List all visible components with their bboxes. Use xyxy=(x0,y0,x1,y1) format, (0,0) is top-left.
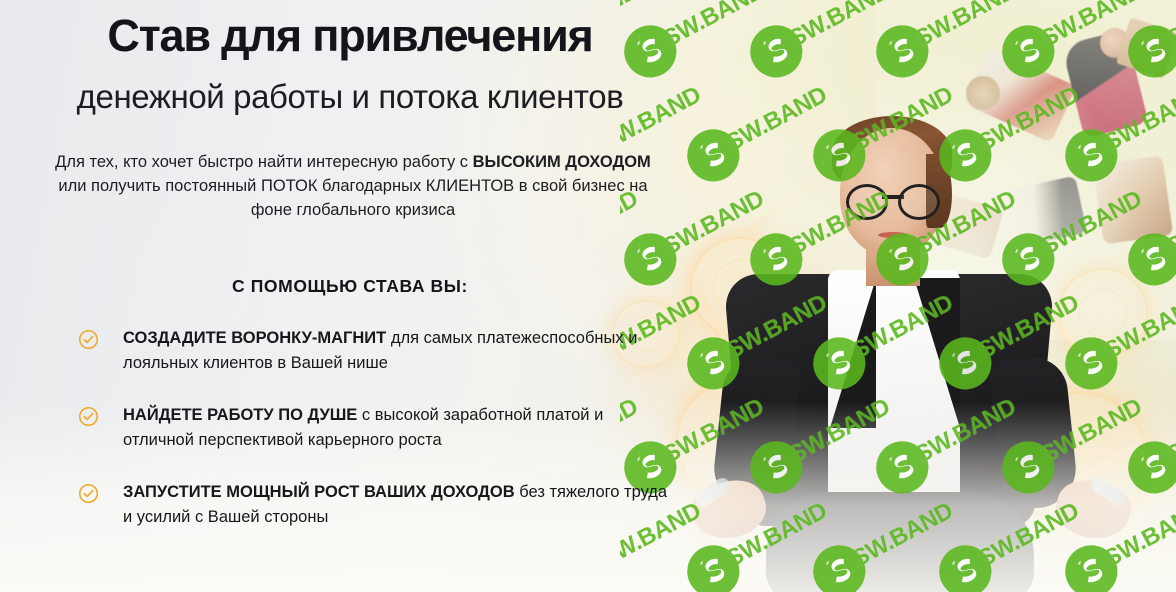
check-circle-icon xyxy=(78,406,99,427)
benefits-heading: С ПОМОЩЬЮ СТАВА ВЫ: xyxy=(0,276,700,297)
banner-copy: Став для привлечения денежной работы и п… xyxy=(0,0,700,592)
benefit-emphasis: НАЙДЕТЕ РАБОТУ ПО ДУШЕ xyxy=(123,406,357,424)
lede-text-part2: или получить постоянный ПОТОК благодарны… xyxy=(58,177,647,219)
benefit-text: СОЗДАДИТЕ ВОРОНКУ-МАГНИТ для самых плате… xyxy=(123,326,678,376)
glasses-icon xyxy=(846,184,940,214)
glasses-lens-left xyxy=(846,184,888,220)
benefit-emphasis: ЗАПУСТИТЕ МОЩНЫЙ РОСТ ВАШИХ ДОХОДОВ xyxy=(123,483,515,501)
benefit-emphasis: СОЗДАДИТЕ ВОРОНКУ-МАГНИТ xyxy=(123,329,386,347)
lede-emphasis: ВЫСОКИМ ДОХОДОМ xyxy=(473,153,651,171)
glasses-lens-right xyxy=(898,184,940,220)
benefit-item: НАЙДЕТЕ РАБОТУ ПО ДУШЕ с высокой заработ… xyxy=(78,403,678,453)
benefit-text: НАЙДЕТЕ РАБОТУ ПО ДУШЕ с высокой заработ… xyxy=(123,403,678,453)
benefit-item: ЗАПУСТИТЕ МОЩНЫЙ РОСТ ВАШИХ ДОХОДОВ без … xyxy=(78,480,678,530)
benefit-text: ЗАПУСТИТЕ МОЩНЫЙ РОСТ ВАШИХ ДОХОДОВ без … xyxy=(123,480,678,530)
woman-lips xyxy=(878,232,908,238)
benefit-item: СОЗДАДИТЕ ВОРОНКУ-МАГНИТ для самых плате… xyxy=(78,326,678,376)
lede-paragraph: Для тех, кто хочет быстро найти интересн… xyxy=(42,150,664,222)
check-circle-icon xyxy=(78,483,99,504)
page-subtitle: денежной работы и потока клиентов xyxy=(0,78,700,116)
promo-banner: SW.BANDSW.BANDSW.BANDSW.BANDSW.BANDSW.BA… xyxy=(0,0,1176,592)
lede-text-part1: Для тех, кто хочет быстро найти интересн… xyxy=(55,153,472,171)
check-circle-icon xyxy=(78,329,99,350)
benefits-list: СОЗДАДИТЕ ВОРОНКУ-МАГНИТ для самых плате… xyxy=(78,326,678,557)
page-title: Став для привлечения xyxy=(0,12,700,61)
